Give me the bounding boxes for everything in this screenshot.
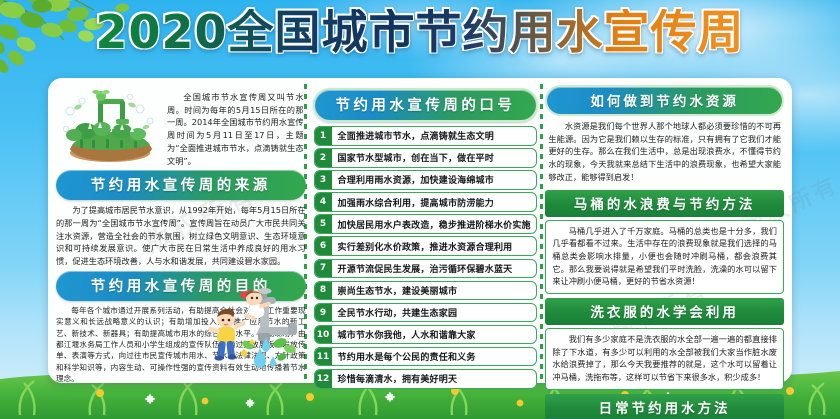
slogan-number: 4 xyxy=(315,193,332,211)
mid-column: 节约用水宣传周的口号 1 全面推进城市节水，点滴铸就生态文明 2 国家节水型城市… xyxy=(313,85,539,377)
page-title: 2020全国城市节约用水宣传周 xyxy=(95,9,744,55)
slogan-number: 11 xyxy=(315,348,332,366)
intro-block: 全国城市节水宣传周又叫节水周。时间为每年的5月15日所在的那一周。2014年全国… xyxy=(56,85,306,167)
list-item[interactable]: 1 全面推进城市节水，点滴铸就生态文明 xyxy=(314,126,538,146)
slogan-number: 6 xyxy=(315,237,332,255)
slogan-text: 国家节水型城市，创在当下，做在平时 xyxy=(332,149,537,167)
list-item[interactable]: 2 国家节水型城市，创在当下，做在平时 xyxy=(314,148,538,168)
slogan-number: 3 xyxy=(315,171,332,189)
poster-background: 2020全国城市节约用水宣传周 xyxy=(0,0,840,419)
section-body-laundry: 我们有多少家庭不是洗衣服的水全部一遍一遍的都直接排除了下水道，有多少可以利用的水… xyxy=(545,328,784,390)
slogan-list: 1 全面推进城市节水，点滴铸就生态文明 2 国家节水型城市，创在当下，做在平时 … xyxy=(313,126,539,389)
section-header-daily-methods: 日常节约用水方法 xyxy=(545,394,784,419)
right-section-how-to-save: 如何做到节约水资源 水资源是我们每个世界人那个地球人都必须要珍惜的不可再生能源。… xyxy=(545,85,784,186)
list-item[interactable]: 10 城市节水你我他，人水和谐靠大家 xyxy=(314,325,538,345)
poster-title-wrap: 2020全国城市节约用水宣传周 xyxy=(0,9,840,55)
slogan-number: 8 xyxy=(315,282,332,300)
list-item[interactable]: 3 合理利用雨水资源，加快建设海绵城市 xyxy=(314,170,538,190)
eco-water-pipe-illustration xyxy=(58,87,162,165)
intro-text: 全国城市节水宣传周又叫节水周。时间为每年的5月15日所在的那一周。2014年全国… xyxy=(167,87,304,167)
list-item[interactable]: 8 崇尚生态节水，建设美丽城市 xyxy=(314,281,538,301)
slogan-number: 2 xyxy=(315,149,332,167)
left-column: 全国城市节水宣传周又叫节水周。时间为每年的5月15日所在的那一周。2014年全国… xyxy=(56,85,306,377)
list-item[interactable]: 12 珍惜每滴清水，拥有美好明天 xyxy=(314,369,538,389)
slogan-number: 5 xyxy=(315,215,332,233)
slogan-text: 开源节流促民生发展，治污循环保碧水蓝天 xyxy=(332,260,537,278)
slogan-text: 节约用水是每个公民的责任和义务 xyxy=(332,348,537,366)
slogan-text: 全民节水行动，共建生态家园 xyxy=(332,304,537,322)
section-header-laundry: 洗衣服的水学会利用 xyxy=(545,298,784,325)
content-board: 版权所有 版权所有 版权所有 xyxy=(48,78,792,383)
list-item[interactable]: 9 全民节水行动，共建生态家园 xyxy=(314,303,538,323)
slogan-text: 加快居民用水户表改造，稳步推进阶梯水价实施 xyxy=(332,215,537,233)
slogan-text: 加强雨水综合利用，提高城市防涝能力 xyxy=(332,193,537,211)
right-section-daily-methods: 日常节约用水方法 洗衣服的水学会利用：我们有多少家庭不是洗衣服的水全部一遍一遍的… xyxy=(545,394,784,419)
children-faucet-waterdrop-illustration xyxy=(204,283,310,375)
right-column: 如何做到节约水资源 水资源是我们每个世界人那个地球人都必须要珍惜的不可再生能源。… xyxy=(545,85,784,377)
section-header-how-to-save: 如何做到节约水资源 xyxy=(545,85,784,116)
list-item[interactable]: 5 加快居民用水户表改造，稳步推进阶梯水价实施 xyxy=(314,214,538,234)
slogan-text: 实行差别化水价政策，推进水资源合理利用 xyxy=(332,237,537,255)
section-body-how-to-save: 水资源是我们每个世界人那个地球人都必须要珍惜的不可再生能源。因为它是我们赖以生存… xyxy=(545,116,784,186)
section-header-source: 节约用水宣传周的来源 xyxy=(56,170,306,200)
slogan-text: 城市节水你我他，人水和谐靠大家 xyxy=(332,326,537,344)
list-item[interactable]: 4 加强雨水综合利用，提高城市防涝能力 xyxy=(314,192,538,212)
section-header-slogans: 节约用水宣传周的口号 xyxy=(313,88,539,122)
section-body-toilet: 马桶几乎进入了千万家庭。马桶的总类也是十分多，我们几乎看都看不过来。生活中存在的… xyxy=(545,220,784,295)
list-item[interactable]: 6 实行差别化水价政策，推进水资源合理利用 xyxy=(314,236,538,256)
slogan-text: 珍惜每滴清水，拥有美好明天 xyxy=(332,370,537,388)
slogan-number: 9 xyxy=(315,304,332,322)
slogan-number: 10 xyxy=(315,326,332,344)
section-body-source: 为了提高城市居民节水意识，从1992年开始，每年5月15日所在的那一周为“全国城… xyxy=(56,204,306,268)
slogan-text: 崇尚生态节水，建设美丽城市 xyxy=(332,282,537,300)
list-item[interactable]: 7 开源节流促民生发展，治污循环保碧水蓝天 xyxy=(314,259,538,279)
column-divider-2 xyxy=(540,84,543,379)
slogan-number: 1 xyxy=(315,127,332,145)
slogan-number: 12 xyxy=(315,370,332,388)
right-section-toilet: 马桶的水浪费与节约方法 马桶几乎进入了千万家庭。马桶的总类也是十分多，我们几乎看… xyxy=(545,190,784,295)
slogan-text: 全面推进城市节水，点滴铸就生态文明 xyxy=(332,127,537,145)
slogan-text: 合理利用雨水资源，加快建设海绵城市 xyxy=(332,171,537,189)
list-item[interactable]: 11 节约用水是每个公民的责任和义务 xyxy=(314,347,538,367)
right-section-laundry: 洗衣服的水学会利用 我们有多少家庭不是洗衣服的水全部一遍一遍的都直接排除了下水道… xyxy=(545,298,784,390)
slogan-number: 7 xyxy=(315,260,332,278)
section-header-toilet: 马桶的水浪费与节约方法 xyxy=(545,190,784,217)
